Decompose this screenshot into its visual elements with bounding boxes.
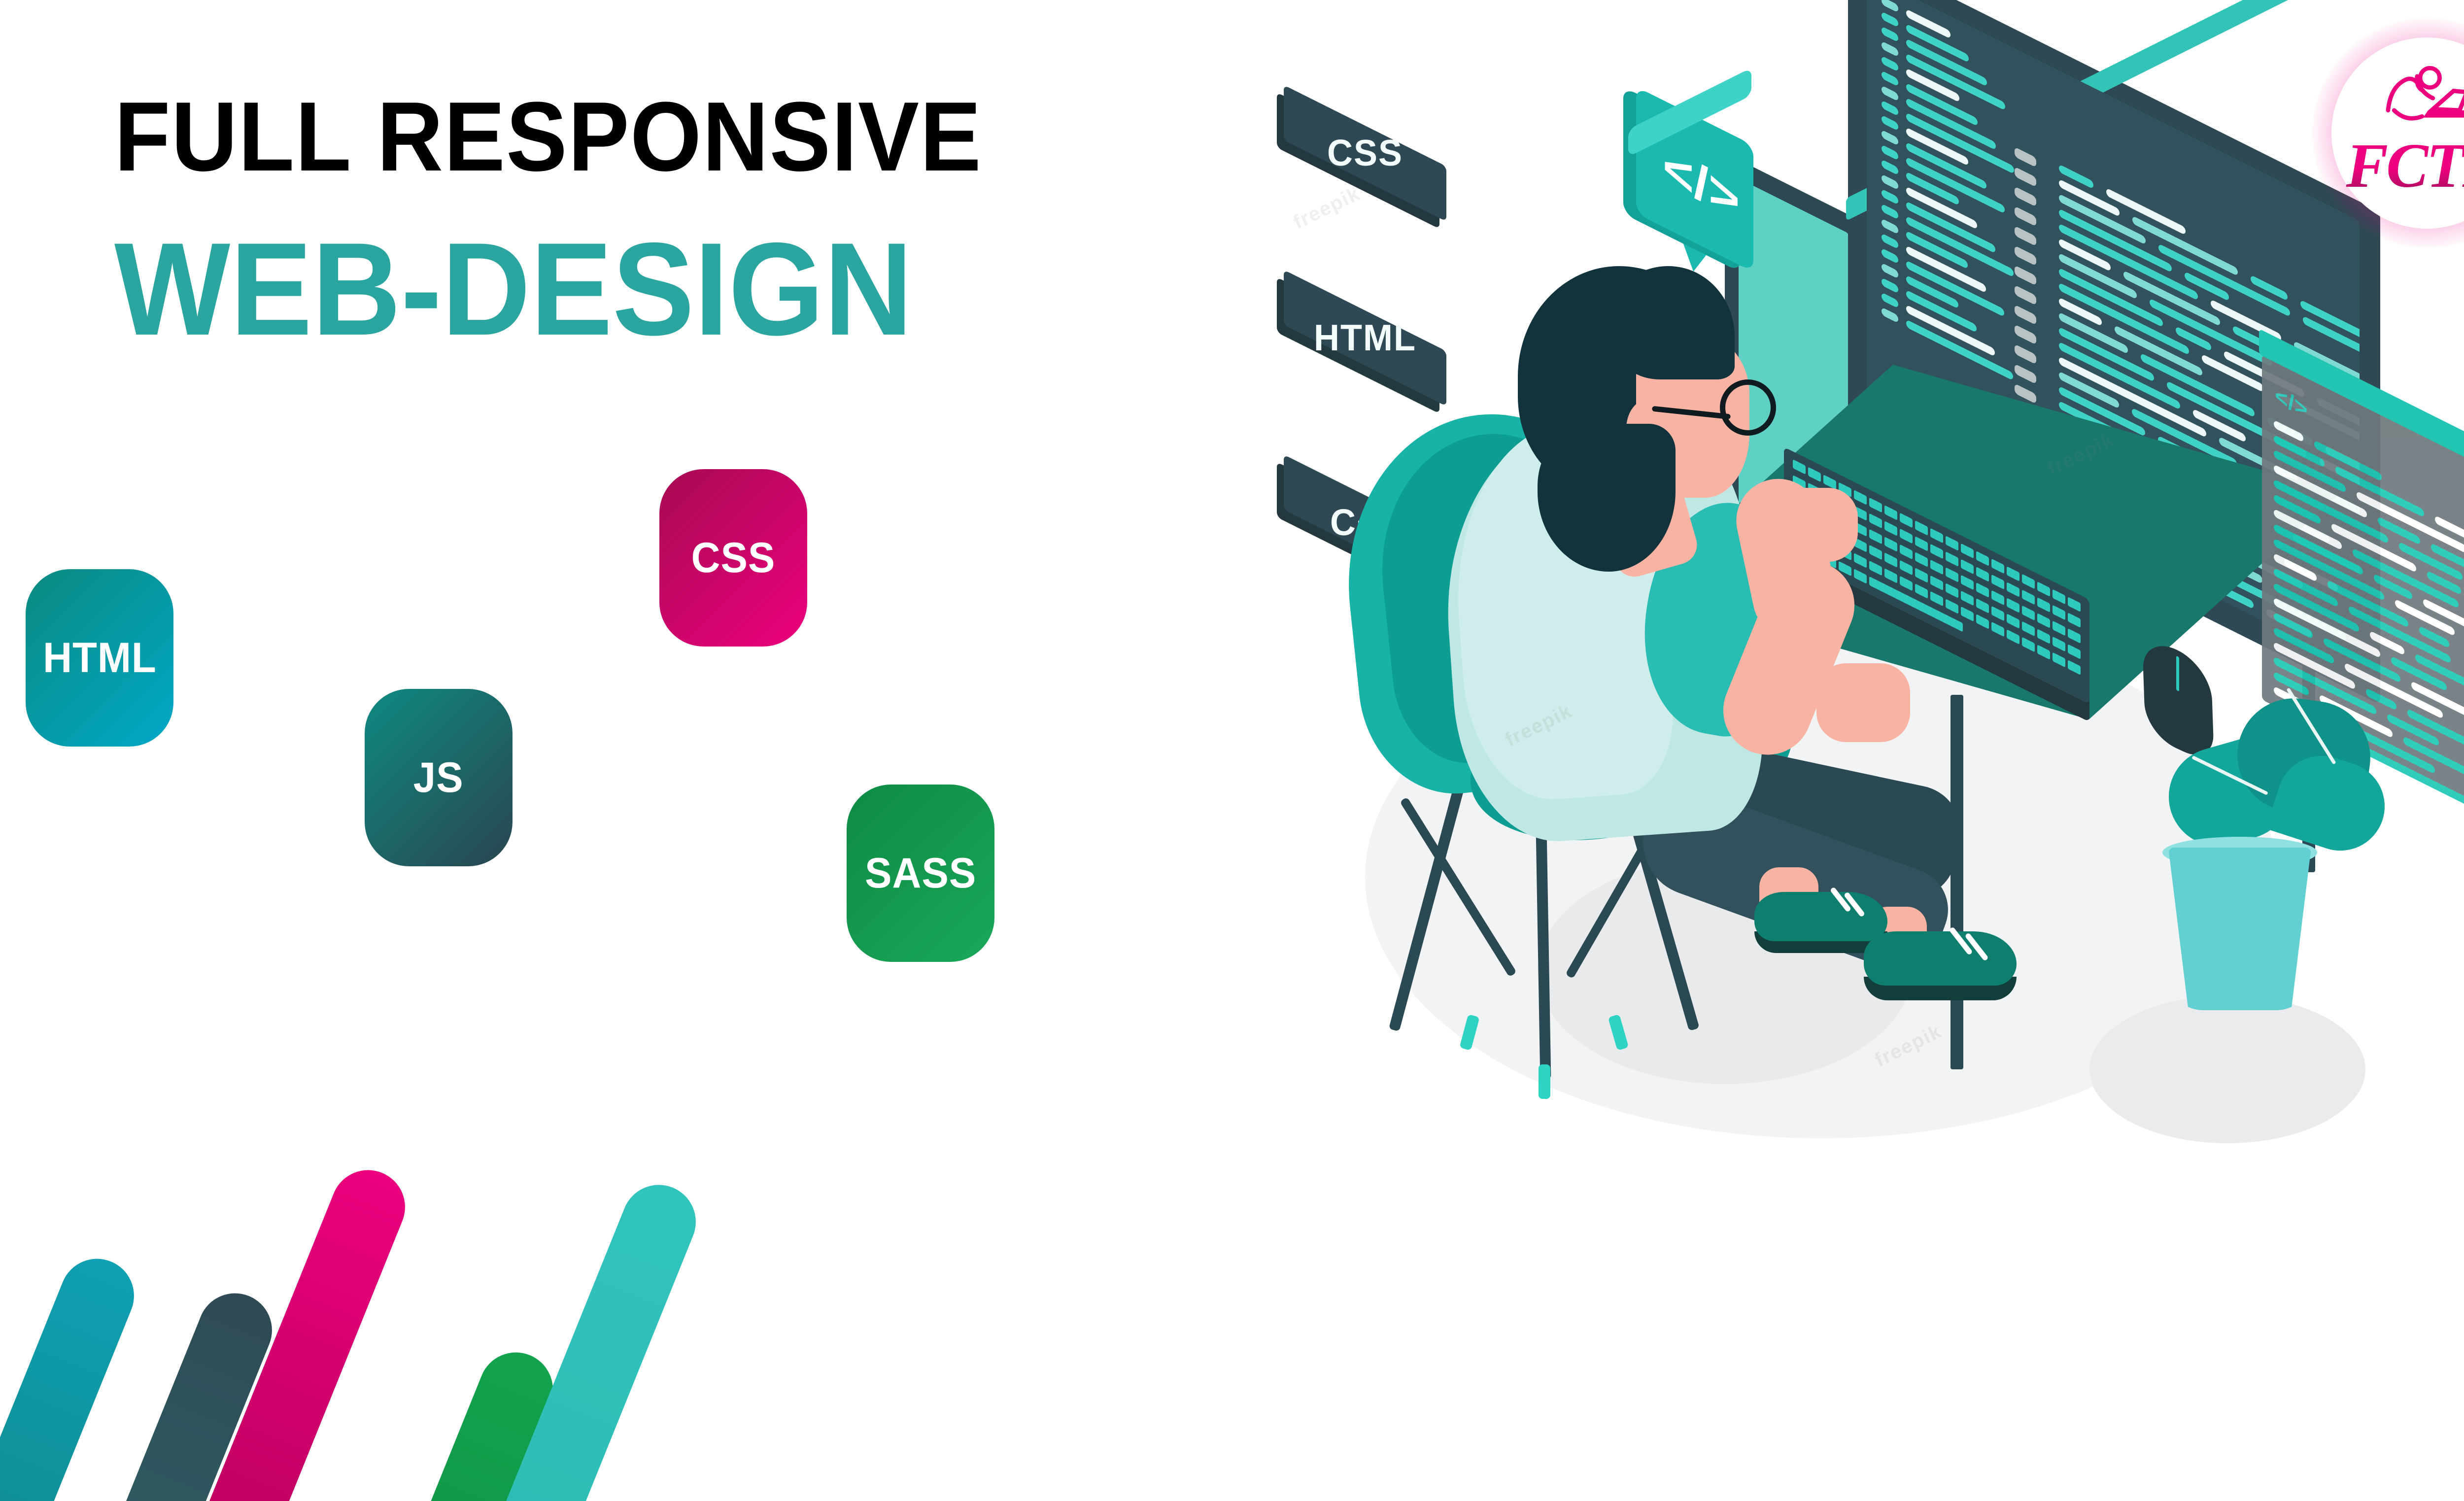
- keyboard-key[interactable]: [1854, 490, 1867, 505]
- code-line: [1882, 11, 1898, 28]
- code-line: [1882, 159, 1898, 175]
- keyboard-key[interactable]: [1793, 459, 1806, 475]
- keyboard-key[interactable]: [1991, 606, 2004, 621]
- code-gutter-chip: [2015, 285, 2036, 306]
- keyboard-key[interactable]: [1930, 544, 1943, 559]
- code-gutter-chip: [2015, 344, 2036, 365]
- keyboard-key[interactable]: [1884, 552, 1897, 568]
- keyboard-key[interactable]: [2053, 637, 2065, 652]
- keyboard-key[interactable]: [1961, 575, 1974, 590]
- code-gutter-chip: [2015, 186, 2036, 207]
- keyboard-key[interactable]: [1900, 512, 1913, 528]
- code-line: [1882, 41, 1898, 57]
- keyboard-key[interactable]: [1976, 582, 1989, 598]
- keyboard-key[interactable]: [2007, 629, 2019, 645]
- keyboard-key[interactable]: [1976, 551, 1989, 566]
- keyboard-key[interactable]: [1946, 536, 1958, 551]
- code-gutter-chip: [2015, 226, 2036, 246]
- code-line: [1882, 307, 1898, 323]
- keyboard-key[interactable]: [1961, 544, 1974, 559]
- keyboard-key[interactable]: [2068, 660, 2081, 675]
- glasses-icon: [1720, 379, 1776, 436]
- keyboard-key[interactable]: [1991, 622, 2004, 637]
- keyboard-key[interactable]: [2037, 629, 2050, 644]
- code-speech-bubble: </>: [1621, 113, 1769, 276]
- plant-pot: [2168, 848, 2311, 1010]
- code-line: [1882, 204, 1898, 220]
- poster-canvas: FULL RESPONSIVE WEB-DESIGN HTMLCSSJSSASS…: [0, 0, 2464, 1501]
- keyboard-key[interactable]: [1930, 528, 1943, 543]
- keyboard-key[interactable]: [1884, 537, 1897, 552]
- keyboard-key[interactable]: [1884, 568, 1897, 583]
- keyboard-key[interactable]: [1991, 590, 2004, 606]
- tech-badge-label: JS: [413, 753, 464, 802]
- tech-badge-html[interactable]: HTML: [26, 569, 173, 747]
- keyboard-key[interactable]: [2037, 581, 2050, 597]
- code-line: [1882, 0, 1898, 13]
- keyboard-key[interactable]: [2007, 614, 2019, 629]
- person-hand-right: [1816, 663, 1910, 742]
- keyboard-key[interactable]: [1869, 513, 1882, 528]
- keyboard-key[interactable]: [2037, 645, 2050, 660]
- tech-badge-label: CSS: [691, 534, 776, 582]
- code-gutter-chip: [2015, 147, 2036, 168]
- keyboard-key[interactable]: [1961, 559, 1974, 575]
- mouse-scroll-line: [2176, 655, 2179, 691]
- keyboard-key[interactable]: [2053, 621, 2065, 636]
- keyboard-key[interactable]: [1976, 614, 1989, 629]
- code-line: [1882, 70, 1898, 87]
- code-line: [1882, 248, 1898, 264]
- person-at-laptop-icon: [2369, 58, 2464, 137]
- keyboard-key[interactable]: [1884, 521, 1897, 536]
- keyboard-key[interactable]: [2053, 652, 2065, 668]
- keyboard-key[interactable]: [2022, 621, 2035, 637]
- keyboard-key[interactable]: [1946, 599, 1958, 614]
- keyboard-key[interactable]: [1900, 576, 1913, 591]
- keyboard-key[interactable]: [2068, 644, 2081, 659]
- keyboard-key[interactable]: [2068, 597, 2081, 612]
- brand-logo[interactable]: FCTI!: [2324, 30, 2464, 237]
- code-tag-icon: </>: [2275, 381, 2308, 424]
- keyboard-key[interactable]: [2007, 566, 2019, 581]
- tech-badge-label: HTML: [43, 634, 157, 682]
- keyboard-key[interactable]: [1946, 551, 1958, 567]
- workspace-illustration: </>: [1262, 59, 2464, 1439]
- page-title-line1: FULL RESPONSIVE: [114, 88, 982, 186]
- keyboard-key[interactable]: [1961, 607, 1974, 622]
- keyboard-key[interactable]: [1900, 528, 1913, 544]
- keyboard-key[interactable]: [2022, 606, 2035, 621]
- keyboard-key[interactable]: [1915, 552, 1928, 567]
- decorative-ribbons: [0, 1015, 1331, 1501]
- keyboard-key[interactable]: [2007, 582, 2019, 597]
- code-gutter-chip: [2015, 167, 2036, 187]
- keyboard-key[interactable]: [2022, 590, 2035, 605]
- keyboard-key[interactable]: [1854, 569, 1867, 584]
- person-hand-left: [1774, 488, 1858, 562]
- keyboard-key[interactable]: [2068, 613, 2081, 628]
- keyboard-key[interactable]: [2037, 613, 2050, 628]
- shoe-front: [1864, 931, 2017, 986]
- keyboard-key[interactable]: [1808, 467, 1821, 482]
- code-line: [1882, 263, 1898, 279]
- code-gutter-chip: [2015, 305, 2036, 325]
- keyboard-key[interactable]: [1900, 544, 1913, 559]
- keyboard-key[interactable]: [1930, 591, 1943, 606]
- code-line: [1882, 174, 1898, 190]
- tech-badge-js[interactable]: JS: [365, 689, 513, 866]
- shoe-back: [1754, 892, 1887, 941]
- page-title-line2: WEB-DESIGN: [114, 223, 982, 355]
- keyboard-key[interactable]: [1915, 520, 1928, 536]
- keyboard-key[interactable]: [2022, 637, 2035, 652]
- code-line: [1882, 115, 1898, 131]
- code-gutter-chip: [2015, 324, 2036, 345]
- code-line: [2123, 271, 2220, 327]
- code-line: [2132, 216, 2238, 276]
- chair-tip-mid: [1539, 1064, 1550, 1099]
- code-line: [1882, 130, 1898, 146]
- code-line: [1882, 56, 1898, 72]
- keyboard-key[interactable]: [1976, 598, 1989, 614]
- keyboard-key[interactable]: [2068, 628, 2081, 644]
- keyboard-key[interactable]: [1915, 536, 1928, 551]
- keyboard-key[interactable]: [1930, 559, 1943, 575]
- keyboard-key[interactable]: [1854, 553, 1867, 568]
- code-line: [1882, 26, 1898, 42]
- keyboard-key[interactable]: [2037, 597, 2050, 613]
- code-line: [1882, 100, 1898, 116]
- tech-badge-sass[interactable]: SASS: [847, 785, 994, 962]
- desk-leg-front: [1951, 695, 1963, 1069]
- tech-badge-label: SASS: [865, 849, 976, 898]
- code-gutter-chip: [2015, 265, 2036, 286]
- keyboard-key[interactable]: [2053, 589, 2065, 605]
- keyboard-key[interactable]: [1991, 575, 2004, 590]
- code-gutter-chip: [2015, 364, 2036, 384]
- tech-badge-css[interactable]: CSS: [659, 469, 807, 647]
- code-line: [1882, 85, 1898, 102]
- keyboard-key[interactable]: [2022, 574, 2035, 589]
- keyboard-key[interactable]: [1869, 529, 1882, 544]
- code-line: [1906, 319, 2013, 381]
- code-line: [1882, 144, 1898, 161]
- keyboard-key[interactable]: [1900, 560, 1913, 575]
- code-line: [1882, 189, 1898, 205]
- headline-group: FULL RESPONSIVE WEB-DESIGN: [114, 88, 1047, 355]
- code-line: [1882, 292, 1898, 308]
- keyboard-key[interactable]: [1869, 545, 1882, 560]
- keyboard-key[interactable]: [2053, 605, 2065, 620]
- keyboard-key[interactable]: [1961, 591, 1974, 606]
- keyboard-key[interactable]: [1946, 567, 1958, 582]
- code-gutter-chip: [2015, 245, 2036, 266]
- code-line: [1882, 218, 1898, 235]
- keyboard-key[interactable]: [1915, 583, 1928, 599]
- plant-shadow: [2089, 995, 2365, 1143]
- logo-wordmark: FCTI!: [2324, 134, 2464, 197]
- code-line: [1882, 277, 1898, 294]
- keyboard-key[interactable]: [1869, 560, 1882, 576]
- keyboard-key[interactable]: [1976, 567, 1989, 582]
- keyboard-key[interactable]: [1915, 568, 1928, 583]
- keyboard-key[interactable]: [1884, 505, 1897, 520]
- keyboard-key[interactable]: [1930, 575, 1943, 590]
- person-hair-fringe: [1607, 266, 1735, 379]
- ribbon-1: [0, 1248, 145, 1501]
- code-gutter-chip: [2015, 206, 2036, 227]
- keyboard-key[interactable]: [2007, 598, 2019, 613]
- keyboard-key[interactable]: [1869, 497, 1882, 512]
- code-line: [1882, 233, 1898, 249]
- keyboard-key[interactable]: [1991, 559, 2004, 574]
- keyboard-key[interactable]: [1946, 583, 1958, 598]
